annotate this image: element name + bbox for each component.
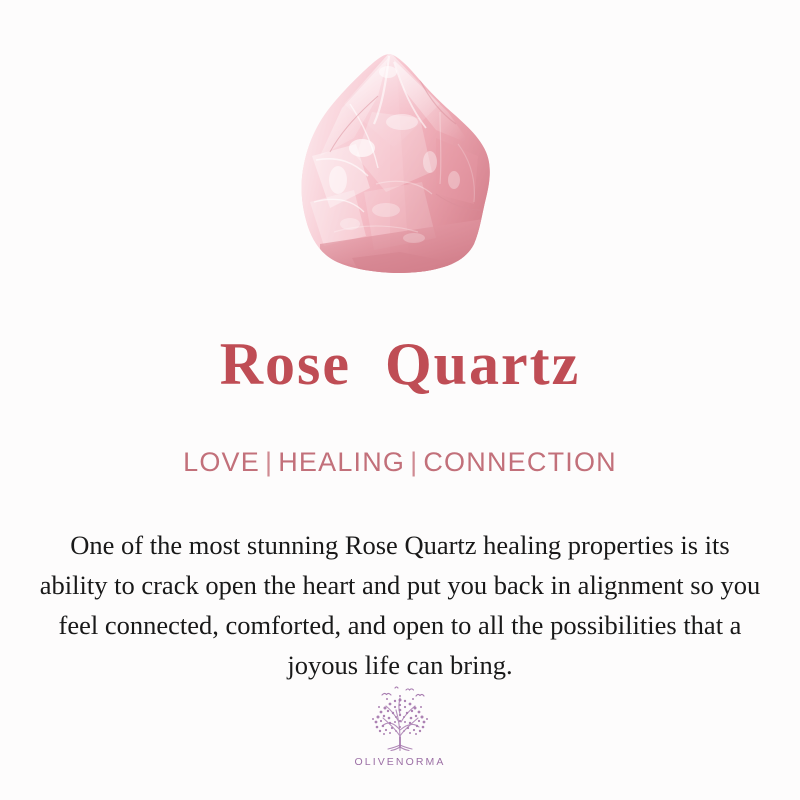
keyword-connection: CONNECTION [423,447,617,477]
crystal-image-container [0,0,800,300]
keyword-love: LOVE [183,447,260,477]
tree-of-life-icon [362,682,438,754]
description-paragraph: One of the most stunning Rose Quartz hea… [36,525,764,685]
brand-wordmark: OLIVENORMA [354,756,445,768]
brand-logo: OLIVENORMA [0,682,800,768]
keyword-healing: HEALING [278,447,405,477]
rose-quartz-crystal-image [290,52,510,280]
birds-icon [382,687,424,696]
keyword-separator-2: | [405,447,423,477]
keyword-separator-1: | [260,447,278,477]
rose-quartz-info-card: Rose Quartz LOVE|HEALING|CONNECTION One … [0,0,800,800]
tree-canopy [372,695,428,740]
keyword-tagline: LOVE|HEALING|CONNECTION [0,447,800,478]
page-title: Rose Quartz [0,334,800,395]
